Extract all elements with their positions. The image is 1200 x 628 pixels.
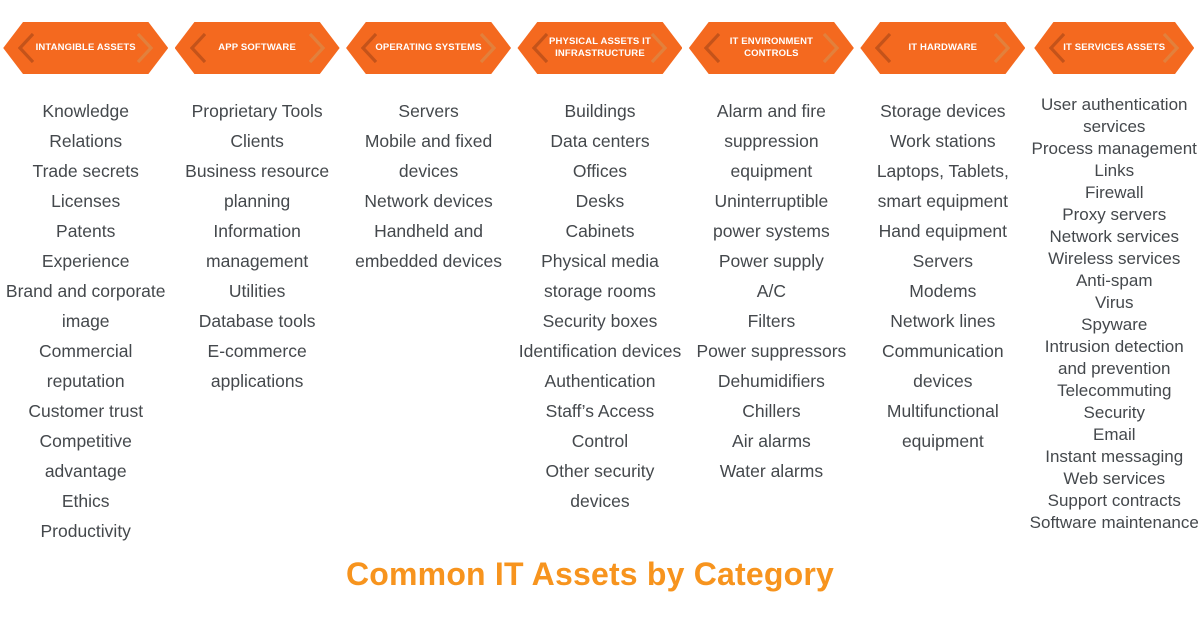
list-item: Air alarms	[689, 426, 854, 456]
list-item: Ethics	[3, 486, 168, 516]
list-item: Telecommuting	[1029, 380, 1200, 402]
list-item: Commercial reputation	[3, 336, 168, 396]
list-item: Storage devices	[860, 96, 1025, 126]
list-item: Anti-spam	[1029, 270, 1200, 292]
list-item: Information management	[174, 216, 339, 276]
category-column: APP SOFTWAREProprietary ToolsClientsBusi…	[171, 22, 342, 396]
category-banner-label: APP SOFTWARE	[214, 42, 300, 55]
list-item: Database tools	[174, 306, 339, 336]
list-item: Identification devices	[517, 336, 682, 366]
category-banner-label: IT SERVICES ASSETS	[1059, 42, 1169, 55]
chevron-left-icon	[704, 33, 720, 63]
list-item: Servers	[346, 96, 511, 126]
category-banner[interactable]: INTANGIBLE ASSETS	[3, 22, 168, 74]
list-item: Network services	[1029, 226, 1200, 248]
list-item: Trade secrets	[3, 156, 168, 186]
category-banner[interactable]: PHYSICAL ASSETS IT INFRASTRUCTURE	[517, 22, 682, 74]
list-item: Web services	[1029, 468, 1200, 490]
list-item: Experience	[3, 246, 168, 276]
list-item: Servers	[860, 246, 1025, 276]
category-item-list: BuildingsData centersOfficesDesksCabinet…	[514, 96, 685, 516]
list-item: Handheld and embedded devices	[346, 216, 511, 276]
category-column: IT SERVICES ASSETSUser authentication se…	[1029, 22, 1200, 534]
chevron-right-icon	[309, 33, 325, 63]
category-banner-label: IT ENVIRONMENT CONTROLS	[726, 36, 817, 61]
list-item: Alarm and fire suppression equipment	[689, 96, 854, 186]
list-item: Licenses	[3, 186, 168, 216]
list-item: Power suppressors	[689, 336, 854, 366]
list-item: Clients	[174, 126, 339, 156]
chevron-right-icon	[823, 33, 839, 63]
list-item: Brand and corporate image	[3, 276, 168, 336]
category-column: OPERATING SYSTEMSServersMobile and fixed…	[343, 22, 514, 276]
it-assets-diagram: INTANGIBLE ASSETSKnowledgeRelationsTrade…	[0, 0, 1200, 628]
category-item-list: User authentication servicesProcess mana…	[1029, 94, 1200, 534]
category-item-list: ServersMobile and fixed devicesNetwork d…	[343, 96, 514, 276]
list-item: Modems	[860, 276, 1025, 306]
category-banner[interactable]: IT HARDWARE	[860, 22, 1025, 74]
list-item: Productivity	[3, 516, 168, 546]
list-item: Support contracts	[1029, 490, 1200, 512]
list-item: Staff’s Access Control	[517, 396, 682, 456]
list-item: Wireless services	[1029, 248, 1200, 270]
category-item-list: KnowledgeRelationsTrade secretsLicensesP…	[0, 96, 171, 546]
category-banner[interactable]: APP SOFTWARE	[175, 22, 340, 74]
category-banner-label: INTANGIBLE ASSETS	[32, 42, 140, 55]
list-item: E-commerce applications	[174, 336, 339, 396]
list-item: Proprietary Tools	[174, 96, 339, 126]
category-banner[interactable]: OPERATING SYSTEMS	[346, 22, 511, 74]
list-item: Mobile and fixed devices	[346, 126, 511, 186]
list-item: Uninterruptible power systems	[689, 186, 854, 246]
list-item: Physical media storage rooms	[517, 246, 682, 306]
list-item: Filters	[689, 306, 854, 336]
list-item: Laptops, Tablets, smart equipment	[860, 156, 1025, 216]
category-columns: INTANGIBLE ASSETSKnowledgeRelationsTrade…	[0, 0, 1200, 546]
list-item: Hand equipment	[860, 216, 1025, 246]
category-column: INTANGIBLE ASSETSKnowledgeRelationsTrade…	[0, 22, 171, 546]
list-item: Dehumidifiers	[689, 366, 854, 396]
category-column: IT HARDWAREStorage devicesWork stationsL…	[857, 22, 1028, 456]
chevron-left-icon	[875, 33, 891, 63]
category-banner[interactable]: IT ENVIRONMENT CONTROLS	[689, 22, 854, 74]
list-item: Cabinets	[517, 216, 682, 246]
list-item: Relations	[3, 126, 168, 156]
category-banner[interactable]: IT SERVICES ASSETS	[1034, 22, 1194, 74]
list-item: Authentication	[517, 366, 682, 396]
diagram-title: Common IT Assets by Category	[0, 556, 1180, 593]
list-item: Chillers	[689, 396, 854, 426]
list-item: Water alarms	[689, 456, 854, 486]
list-item: Buildings	[517, 96, 682, 126]
list-item: Data centers	[517, 126, 682, 156]
list-item: Virus	[1029, 292, 1200, 314]
category-item-list: Storage devicesWork stationsLaptops, Tab…	[857, 96, 1028, 456]
list-item: Email	[1029, 424, 1200, 446]
list-item: Knowledge	[3, 96, 168, 126]
list-item: Links	[1029, 160, 1200, 182]
list-item: Software maintenance	[1029, 512, 1200, 534]
category-banner-label: IT HARDWARE	[904, 42, 981, 55]
category-banner-label: PHYSICAL ASSETS IT INFRASTRUCTURE	[545, 36, 655, 61]
chevron-right-icon	[994, 33, 1010, 63]
list-item: Desks	[517, 186, 682, 216]
list-item: Multifunctional equipment	[860, 396, 1025, 456]
list-item: User authentication services	[1029, 94, 1200, 138]
list-item: Security	[1029, 402, 1200, 424]
category-banner-label: OPERATING SYSTEMS	[371, 42, 485, 55]
list-item: Instant messaging	[1029, 446, 1200, 468]
list-item: Customer trust	[3, 396, 168, 426]
list-item: Firewall	[1029, 182, 1200, 204]
list-item: Security boxes	[517, 306, 682, 336]
category-column: IT ENVIRONMENT CONTROLSAlarm and fire su…	[686, 22, 857, 486]
list-item: Work stations	[860, 126, 1025, 156]
category-item-list: Alarm and fire suppression equipmentUnin…	[686, 96, 857, 486]
list-item: Intrusion detection and prevention	[1029, 336, 1200, 380]
list-item: Process management	[1029, 138, 1200, 160]
list-item: Offices	[517, 156, 682, 186]
list-item: Patents	[3, 216, 168, 246]
list-item: Network devices	[346, 186, 511, 216]
category-column: PHYSICAL ASSETS IT INFRASTRUCTUREBuildin…	[514, 22, 685, 516]
chevron-left-icon	[190, 33, 206, 63]
list-item: Spyware	[1029, 314, 1200, 336]
list-item: Other security devices	[517, 456, 682, 516]
list-item: Competitive advantage	[3, 426, 168, 486]
list-item: Network lines	[860, 306, 1025, 336]
list-item: Proxy servers	[1029, 204, 1200, 226]
list-item: Communication devices	[860, 336, 1025, 396]
list-item: A/C	[689, 276, 854, 306]
list-item: Utilities	[174, 276, 339, 306]
category-item-list: Proprietary ToolsClientsBusiness resourc…	[171, 96, 342, 396]
list-item: Power supply	[689, 246, 854, 276]
list-item: Business resource planning	[174, 156, 339, 216]
